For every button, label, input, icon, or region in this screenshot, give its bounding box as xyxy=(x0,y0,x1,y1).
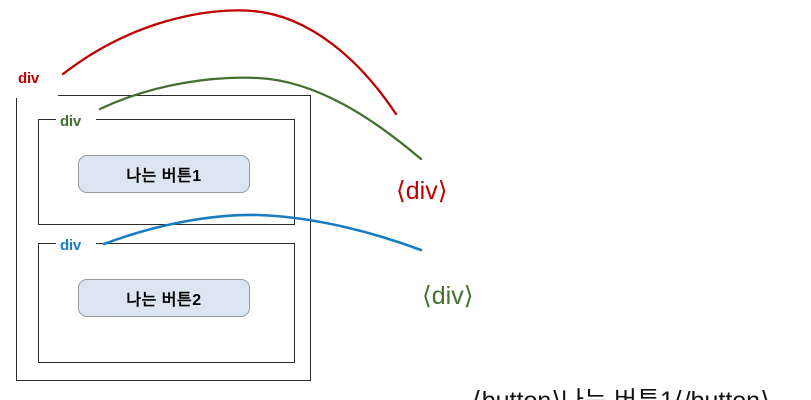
inner-div-label-1: div xyxy=(60,114,81,129)
outer-div-label: div xyxy=(18,71,39,86)
code-line-0: ⟨div⟩ xyxy=(396,174,811,209)
code-line-2: ⟨button⟩나는 버튼1⟨/button⟩ xyxy=(396,384,811,400)
button-2[interactable]: 나는 버튼2 xyxy=(78,279,250,317)
inner-div-label-2: div xyxy=(60,238,81,253)
code-line-1: ⟨div⟩ xyxy=(396,279,811,314)
button-1[interactable]: 나는 버튼1 xyxy=(78,155,250,193)
code-listing: ⟨div⟩ ⟨div⟩ ⟨button⟩나는 버튼1⟨/button⟩ ⟨/di… xyxy=(396,104,811,400)
outer-label-gap xyxy=(14,92,58,98)
nested-div-illustration: div div div 나는 버튼1 나는 버튼2 xyxy=(0,0,400,400)
diagram-canvas: div div div 나는 버튼1 나는 버튼2 ⟨div⟩ ⟨div⟩ ⟨b… xyxy=(0,0,811,400)
